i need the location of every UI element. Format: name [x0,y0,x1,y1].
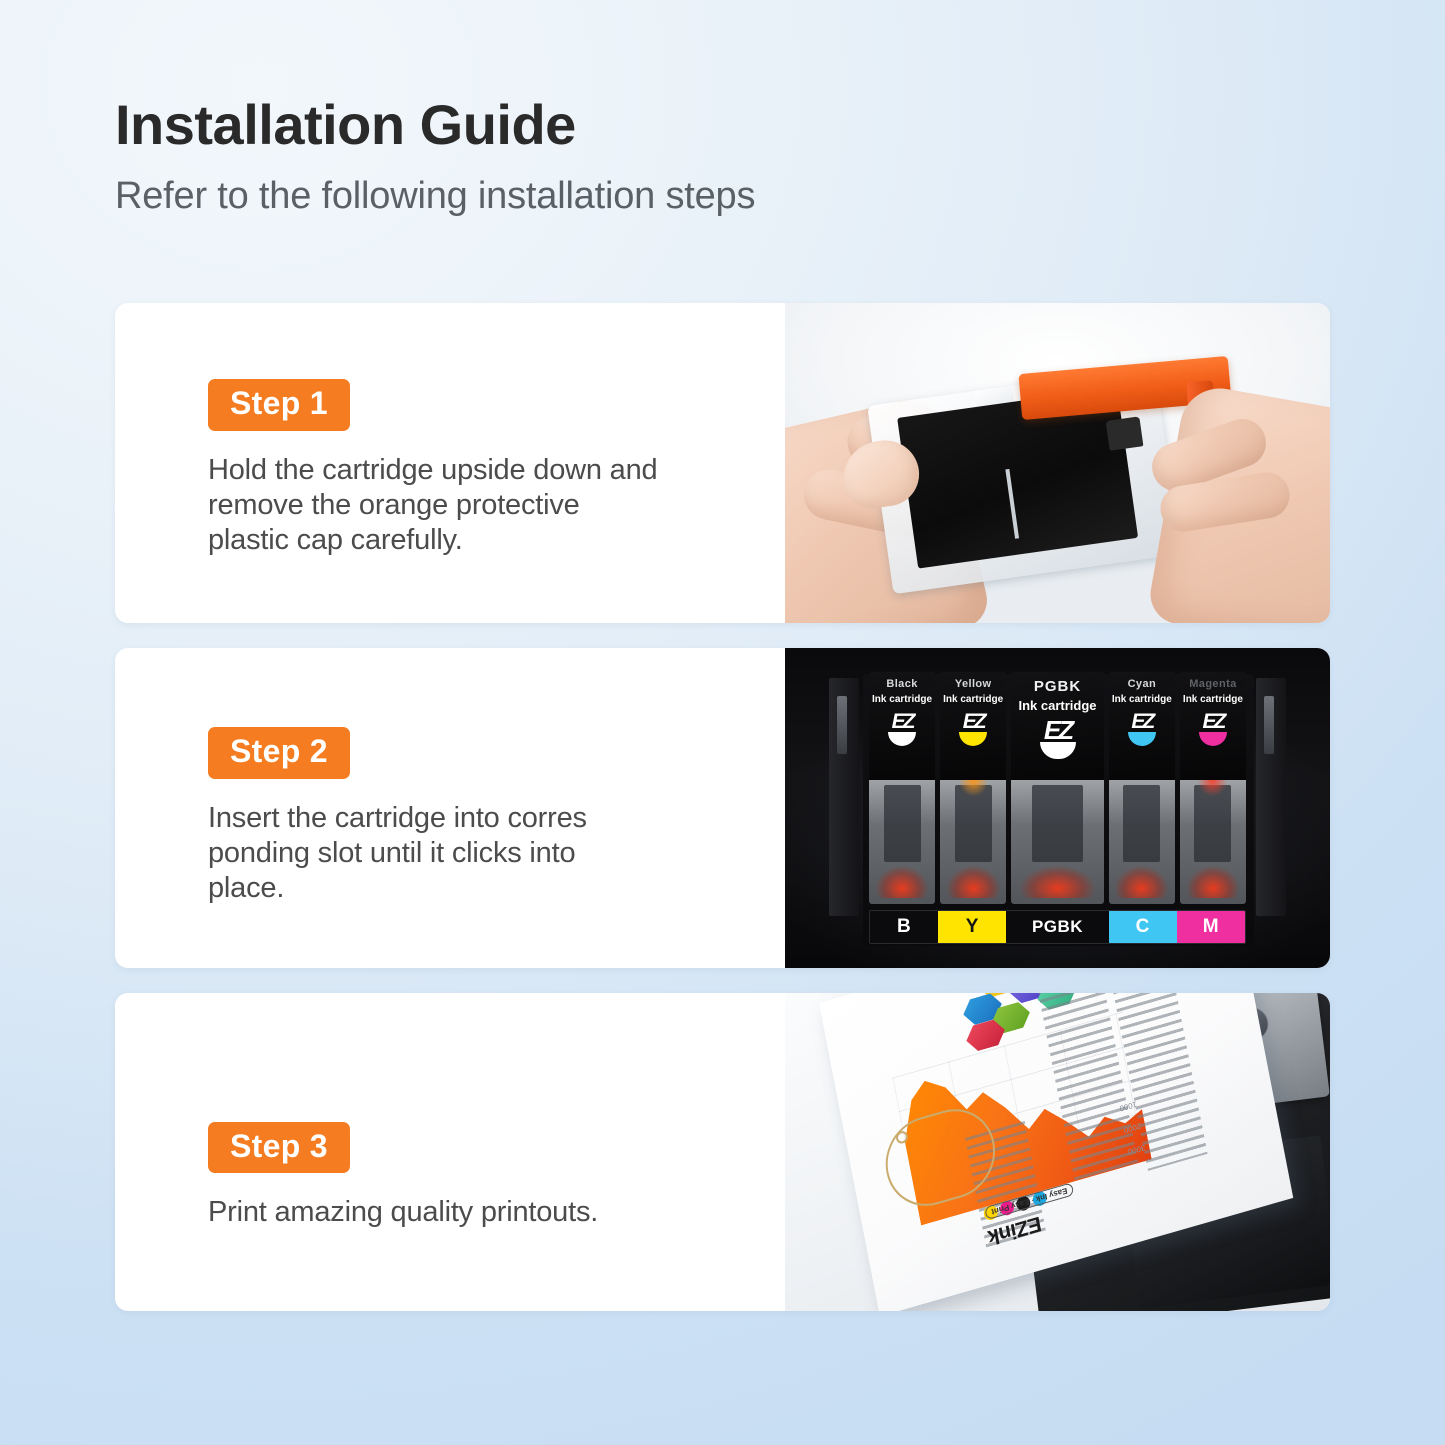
cartridge-magenta-name: Magenta [1189,679,1236,690]
cartridge-magenta-sub: Ink cartridge [1183,695,1243,706]
step-3-text-block: Step 3 Print amazing quality printouts. [115,993,785,1311]
step-2-badge: Step 2 [208,727,350,779]
cartridge-pgbk-sub: Ink cartridge [1018,699,1096,713]
step-card-2: Step 2 Insert the cartridge into corres … [115,648,1330,968]
cartridge-pgbk-label: PGBK Ink cartridge EZ [1011,672,1104,780]
ez-logo-icon: EZ [1198,712,1228,746]
cartridge-magenta-body [1180,780,1246,904]
ez-logo-text: EZ [1039,719,1077,743]
cartridge-cyan-body [1109,780,1175,904]
step-2-body: Insert the cartridge into corres ponding… [208,801,745,907]
carriage-rail-right [1256,678,1286,916]
ez-logo-text: EZ [887,712,917,732]
cartridge-yellow: Yellow Ink cartridge EZ [940,672,1006,904]
cartridge-cyan-name: Cyan [1128,679,1157,690]
step-2-text-block: Step 2 Insert the cartridge into corres … [115,648,785,968]
cartridge-black-sub: Ink cartridge [872,695,932,706]
cartridge-slot-row: Black Ink cartridge EZ Yellow Ink cartri… [869,672,1246,904]
carriage-rail-left [829,678,859,916]
ez-logo-bowl [1040,742,1076,759]
cartridge-pgbk: PGBK Ink cartridge EZ [1011,672,1104,904]
cartridge-black-name: Black [886,679,917,690]
page-subtitle: Refer to the following installation step… [115,175,1330,218]
ez-logo-bowl [888,732,916,746]
page-title: Installation Guide [115,96,1330,155]
cartridge-cyan: Cyan Ink cartridge EZ [1109,672,1175,904]
ez-logo-bowl [1128,732,1156,746]
step-1-text-block: Step 1 Hold the cartridge upside down an… [115,303,785,623]
step-card-3: Step 3 Print amazing quality printouts. [115,993,1330,1311]
slot-color-label-bar: B Y PGBK C M [869,910,1246,944]
step-1-badge: Step 1 [208,379,350,431]
cartridge-cyan-label: Cyan Ink cartridge EZ [1109,672,1175,780]
slot-label-b: B [870,911,938,943]
step-3-body: Print amazing quality printouts. [208,1195,745,1230]
cartridge-yellow-glow [959,780,988,796]
step-1-body: Hold the cartridge upside down and remov… [208,453,745,559]
cartridge-magenta: Magenta Ink cartridge EZ [1180,672,1246,904]
slot-label-c: C [1109,911,1177,943]
cartridge-magenta-label: Magenta Ink cartridge EZ [1180,672,1246,780]
cartridge-yellow-body [940,780,1006,904]
slot-label-pgbk: PGBK [1006,911,1108,943]
ez-logo-icon: EZ [958,712,988,746]
ez-logo-icon: EZ [1039,719,1077,759]
cartridge-pgbk-body [1011,780,1104,904]
ez-logo-icon: EZ [1127,712,1157,746]
slot-label-y: Y [938,911,1006,943]
step-3-badge: Step 3 [208,1122,350,1174]
cartridge-yellow-name: Yellow [955,679,992,690]
ez-logo-text: EZ [1198,712,1228,732]
step-card-1: Step 1 Hold the cartridge upside down an… [115,303,1330,623]
ez-logo-bowl [959,732,987,746]
cartridge-yellow-label: Yellow Ink cartridge EZ [940,672,1006,780]
cartridge-cyan-sub: Ink cartridge [1112,695,1172,706]
page-header: Installation Guide Refer to the followin… [115,96,1330,218]
cartridge-black: Black Ink cartridge EZ [869,672,935,904]
cartridge-black-body [869,780,935,904]
cartridge-black-label: Black Ink cartridge EZ [869,672,935,780]
cartridge-magenta-glow [1198,780,1227,796]
ez-logo-text: EZ [958,712,988,732]
cartridge-yellow-sub: Ink cartridge [943,695,1003,706]
cartridge-tab [1106,416,1144,450]
step-2-image: Black Ink cartridge EZ Yellow Ink cartri… [785,648,1330,968]
slot-label-m: M [1177,911,1245,943]
step-3-image: 1000 2000 3000 Easy Ink · Easy Print EZi… [785,993,1330,1311]
ez-logo-text: EZ [1127,712,1157,732]
cartridge-pgbk-name: PGBK [1034,679,1081,694]
ez-logo-bowl [1199,732,1227,746]
ez-logo-icon: EZ [887,712,917,746]
step-1-image [785,303,1330,623]
cartridge-black-label [897,387,1138,568]
